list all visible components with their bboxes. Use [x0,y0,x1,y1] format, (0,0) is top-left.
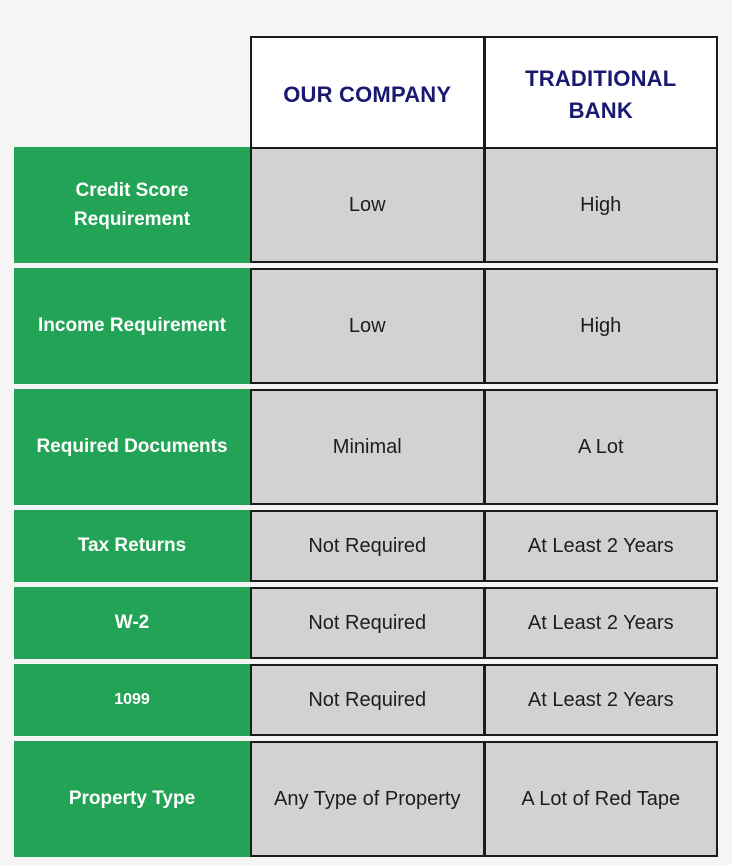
header-corner-spacer [14,36,250,153]
row-label-cell: Required Documents [14,389,250,505]
cell-our-company: Any Type of Property [250,741,485,857]
cell-traditional-bank: High [485,268,719,384]
column-header-traditional-bank: TRADITIONAL BANK [485,36,719,153]
table-row: Required DocumentsMinimalA Lot [14,389,718,505]
table-row: Property TypeAny Type of PropertyA Lot o… [14,741,718,857]
cell-traditional-bank: At Least 2 Years [485,510,719,582]
table-row: Income RequirementLowHigh [14,268,718,384]
cell-traditional-bank: A Lot of Red Tape [485,741,719,857]
cell-our-company: Minimal [250,389,485,505]
comparison-table: OUR COMPANY TRADITIONAL BANK Credit Scor… [0,0,732,865]
table-row: Credit Score RequirementLowHigh [14,147,718,263]
table-body: Credit Score RequirementLowHighIncome Re… [14,147,718,857]
table-row: 1099Not RequiredAt Least 2 Years [14,664,718,736]
table-row: W-2Not RequiredAt Least 2 Years [14,587,718,659]
row-label-cell: W-2 [14,587,250,659]
cell-our-company: Not Required [250,587,485,659]
cell-traditional-bank: At Least 2 Years [485,587,719,659]
table-row: Tax ReturnsNot RequiredAt Least 2 Years [14,510,718,582]
cell-our-company: Low [250,147,485,263]
cell-traditional-bank: A Lot [485,389,719,505]
column-header-our-company: OUR COMPANY [250,36,485,153]
row-label-cell: Property Type [14,741,250,857]
cell-our-company: Not Required [250,510,485,582]
row-label-cell: 1099 [14,664,250,736]
cell-our-company: Low [250,268,485,384]
row-label-cell: Income Requirement [14,268,250,384]
row-label-cell: Tax Returns [14,510,250,582]
cell-our-company: Not Required [250,664,485,736]
table-header-row: OUR COMPANY TRADITIONAL BANK [14,36,718,153]
row-label-cell: Credit Score Requirement [14,147,250,263]
cell-traditional-bank: At Least 2 Years [485,664,719,736]
cell-traditional-bank: High [485,147,719,263]
